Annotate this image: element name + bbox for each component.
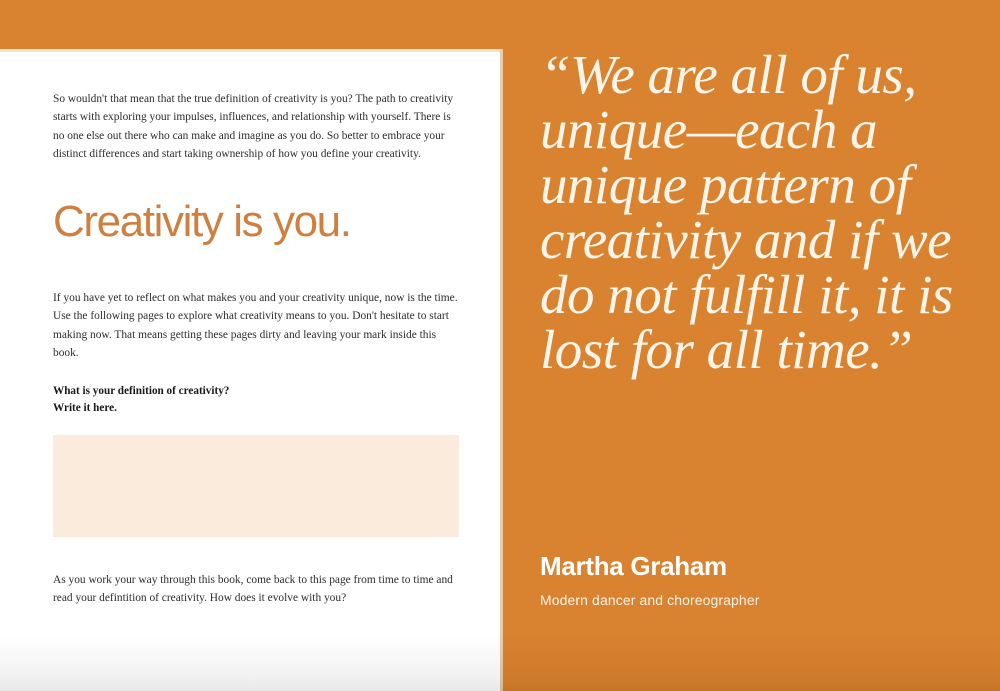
prompt-instruction: Write it here. <box>53 400 459 417</box>
attribution-role: Modern dancer and choreographer <box>540 581 960 609</box>
recto-page: “We are all of us, unique—each a unique … <box>500 0 1000 691</box>
intro-paragraph: So wouldn't that mean that the true defi… <box>53 49 459 164</box>
answer-writing-box[interactable] <box>53 435 459 537</box>
verso-text-column: So wouldn't that mean that the true defi… <box>53 49 459 608</box>
header-seam-line <box>0 49 500 52</box>
pull-quote-text: “We are all of us, unique—each a unique … <box>540 47 960 377</box>
book-spread: 18 | Creative struggle is real Creativit… <box>0 0 1000 691</box>
verso-page: So wouldn't that mean that the true defi… <box>0 49 500 691</box>
prompt-question: What is your definition of creativity? <box>53 383 459 400</box>
gutter-seam-line <box>500 0 503 691</box>
reflect-paragraph: If you have yet to reflect on what makes… <box>53 244 459 363</box>
pull-quote-block: “We are all of us, unique—each a unique … <box>540 47 960 377</box>
closing-paragraph: As you work your way through this book, … <box>53 537 459 608</box>
running-header-bar <box>0 0 1000 49</box>
prompt-block: What is your definition of creativity? W… <box>53 363 459 417</box>
quote-attribution-block: Martha Graham Modern dancer and choreogr… <box>540 552 960 609</box>
attribution-name: Martha Graham <box>540 552 960 581</box>
section-heading: Creativity is you. <box>53 164 459 244</box>
